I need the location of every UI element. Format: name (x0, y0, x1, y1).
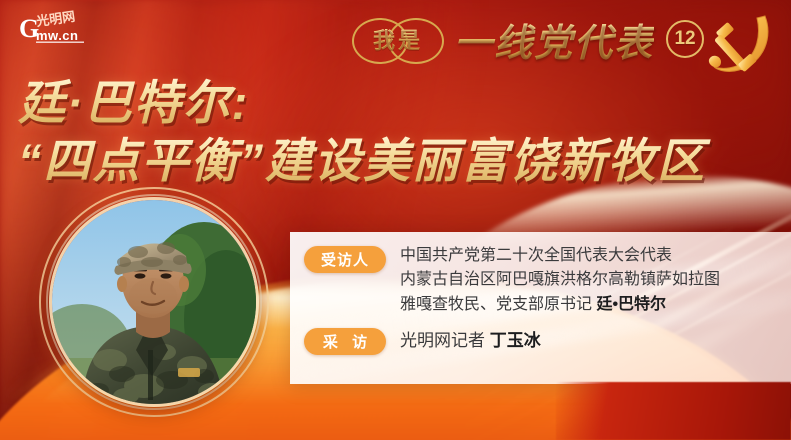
label-interview: 采 访 (304, 328, 386, 355)
portrait-photo (52, 200, 256, 404)
interviewee-line-3-text: 雅嘎查牧民、党支部原书记 (400, 296, 596, 313)
bottom-red-band (556, 382, 791, 440)
interviewee-name: 廷•巴特尔 (596, 296, 666, 313)
title-line-1: 廷·巴特尔: (18, 78, 780, 128)
banner-badge-text: 我是 (373, 23, 423, 55)
interviewee-description: 中国共产党第二十次全国代表大会代表 内蒙古自治区阿巴嘎旗洪格尔高勒镇萨如拉图 雅… (400, 244, 720, 317)
cpc-hammer-sickle-icon (695, 4, 783, 86)
interviewer-prefix: 光明网记者 (400, 331, 490, 350)
series-banner: 我是 一线党代表 12 (352, 8, 704, 70)
poster-root: G 光明网 mw.cn 我是 一线党代表 12 (0, 0, 791, 440)
title-line-2: “四点平衡”建设美丽富饶新牧区 (18, 136, 780, 186)
gmw-logo[interactable]: G 光明网 mw.cn (18, 10, 102, 46)
banner-badge: 我是 (352, 14, 444, 64)
interviewer-description: 光明网记者 丁玉冰 (400, 328, 541, 354)
svg-text:mw.cn: mw.cn (36, 28, 78, 43)
info-panel: 受访人 中国共产党第二十次全国代表大会代表 内蒙古自治区阿巴嘎旗洪格尔高勒镇萨如… (290, 232, 791, 384)
label-interviewee: 受访人 (304, 246, 386, 273)
portrait-container (52, 200, 256, 404)
info-row-interviewer: 采 访 光明网记者 丁玉冰 (304, 326, 791, 355)
poster-title: 廷·巴特尔: “四点平衡”建设美丽富饶新牧区 (18, 78, 780, 186)
interviewee-line-2: 内蒙古自治区阿巴嘎旗洪格尔高勒镇萨如拉图 (400, 268, 720, 292)
interviewee-line-1: 中国共产党第二十次全国代表大会代表 (400, 244, 720, 268)
svg-text:光明网: 光明网 (34, 10, 76, 29)
interviewer-name: 丁玉冰 (490, 331, 541, 350)
info-row-interviewee: 受访人 中国共产党第二十次全国代表大会代表 内蒙古自治区阿巴嘎旗洪格尔高勒镇萨如… (304, 244, 791, 317)
banner-title: 一线党代表 (454, 12, 654, 67)
interviewee-line-3: 雅嘎查牧民、党支部原书记 廷•巴特尔 (400, 293, 720, 317)
